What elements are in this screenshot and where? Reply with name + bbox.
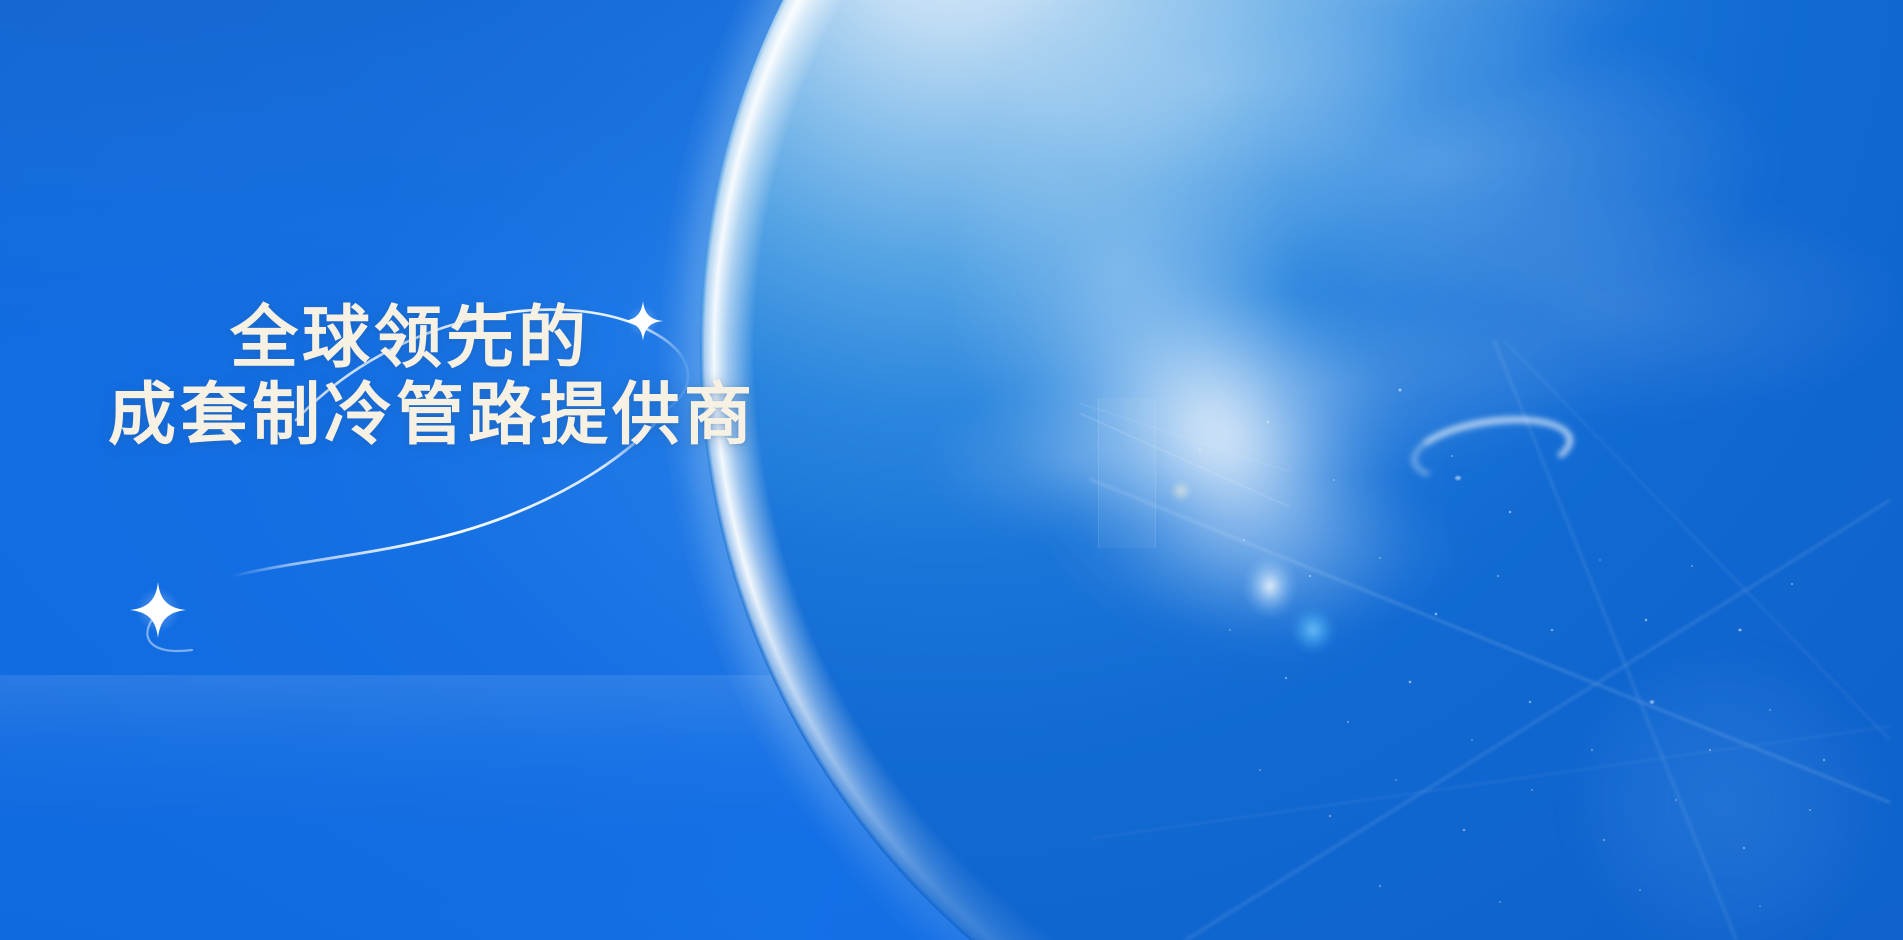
lens-flare-streak — [1080, 400, 1290, 520]
headline-line-2: 成套制冷管路提供商 — [108, 377, 828, 454]
hero-banner: 全球领先的 成套制冷管路提供商 — [0, 0, 1903, 940]
headline: 全球领先的 成套制冷管路提供商 — [108, 300, 828, 454]
headline-line-1: 全球领先的 — [108, 300, 828, 377]
